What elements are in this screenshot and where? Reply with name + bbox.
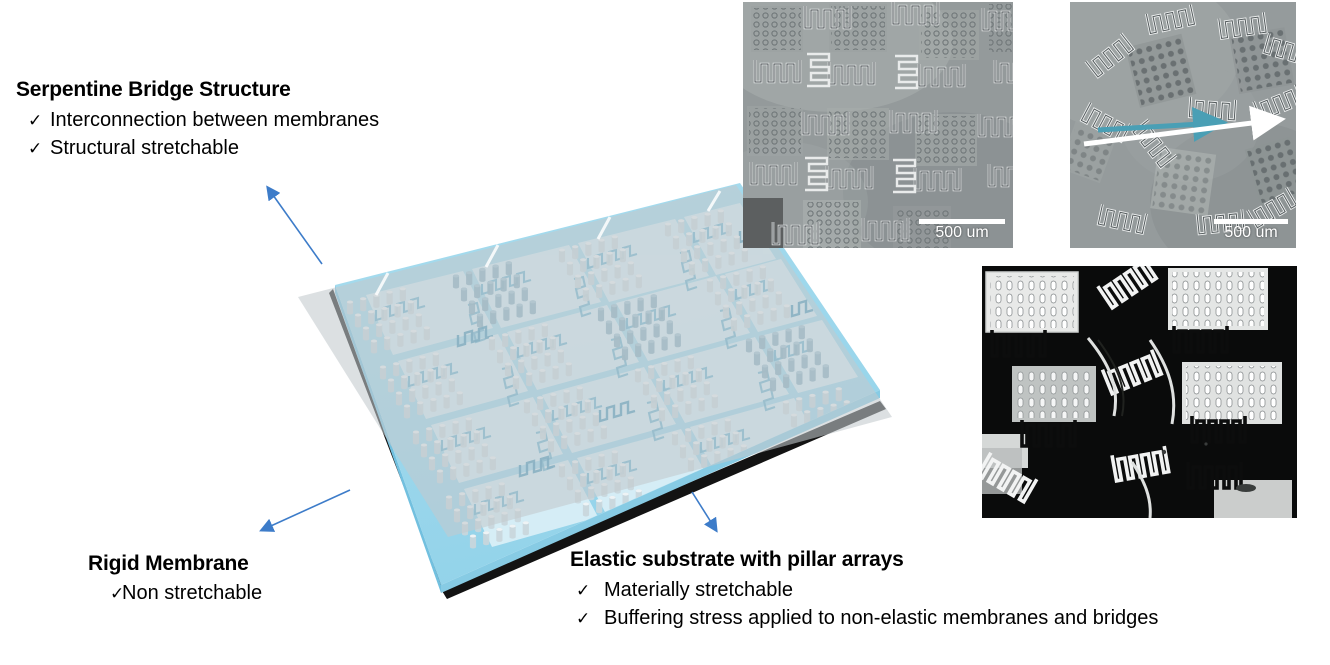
callout-serpentine-title: Serpentine Bridge Structure	[16, 78, 379, 102]
micrograph-stretched-svg	[1070, 2, 1296, 248]
micrograph-deformed-svg	[982, 266, 1297, 518]
optical-micrograph-relaxed: 500 um	[743, 2, 1013, 248]
callout-serpentine-bullet-1: ✓ Structural stretchable	[16, 134, 379, 162]
callout-serpentine-bullet-text-1: Structural stretchable	[50, 134, 239, 162]
optical-micrograph-stretched: 500 um	[1070, 2, 1296, 248]
callout-elastic-bullet-text-1: Buffering stress applied to non-elastic …	[604, 604, 1158, 632]
callout-serpentine-bullet-0: ✓ Interconnection between membranes	[16, 106, 379, 134]
check-icon: ✓	[16, 109, 50, 133]
check-icon: ✓	[570, 607, 604, 631]
callout-serpentine-bullet-text-0: Interconnection between membranes	[50, 106, 379, 134]
micrograph-relaxed-svg	[743, 2, 1013, 248]
check-icon: ✓	[16, 137, 50, 161]
callout-serpentine-bridge: Serpentine Bridge Structure ✓ Interconne…	[16, 78, 379, 163]
high-contrast-micrograph-deformed	[982, 266, 1297, 518]
callout-elastic-bullet-1: ✓ Buffering stress applied to non-elasti…	[570, 604, 1158, 632]
check-icon: ✓	[88, 582, 122, 606]
